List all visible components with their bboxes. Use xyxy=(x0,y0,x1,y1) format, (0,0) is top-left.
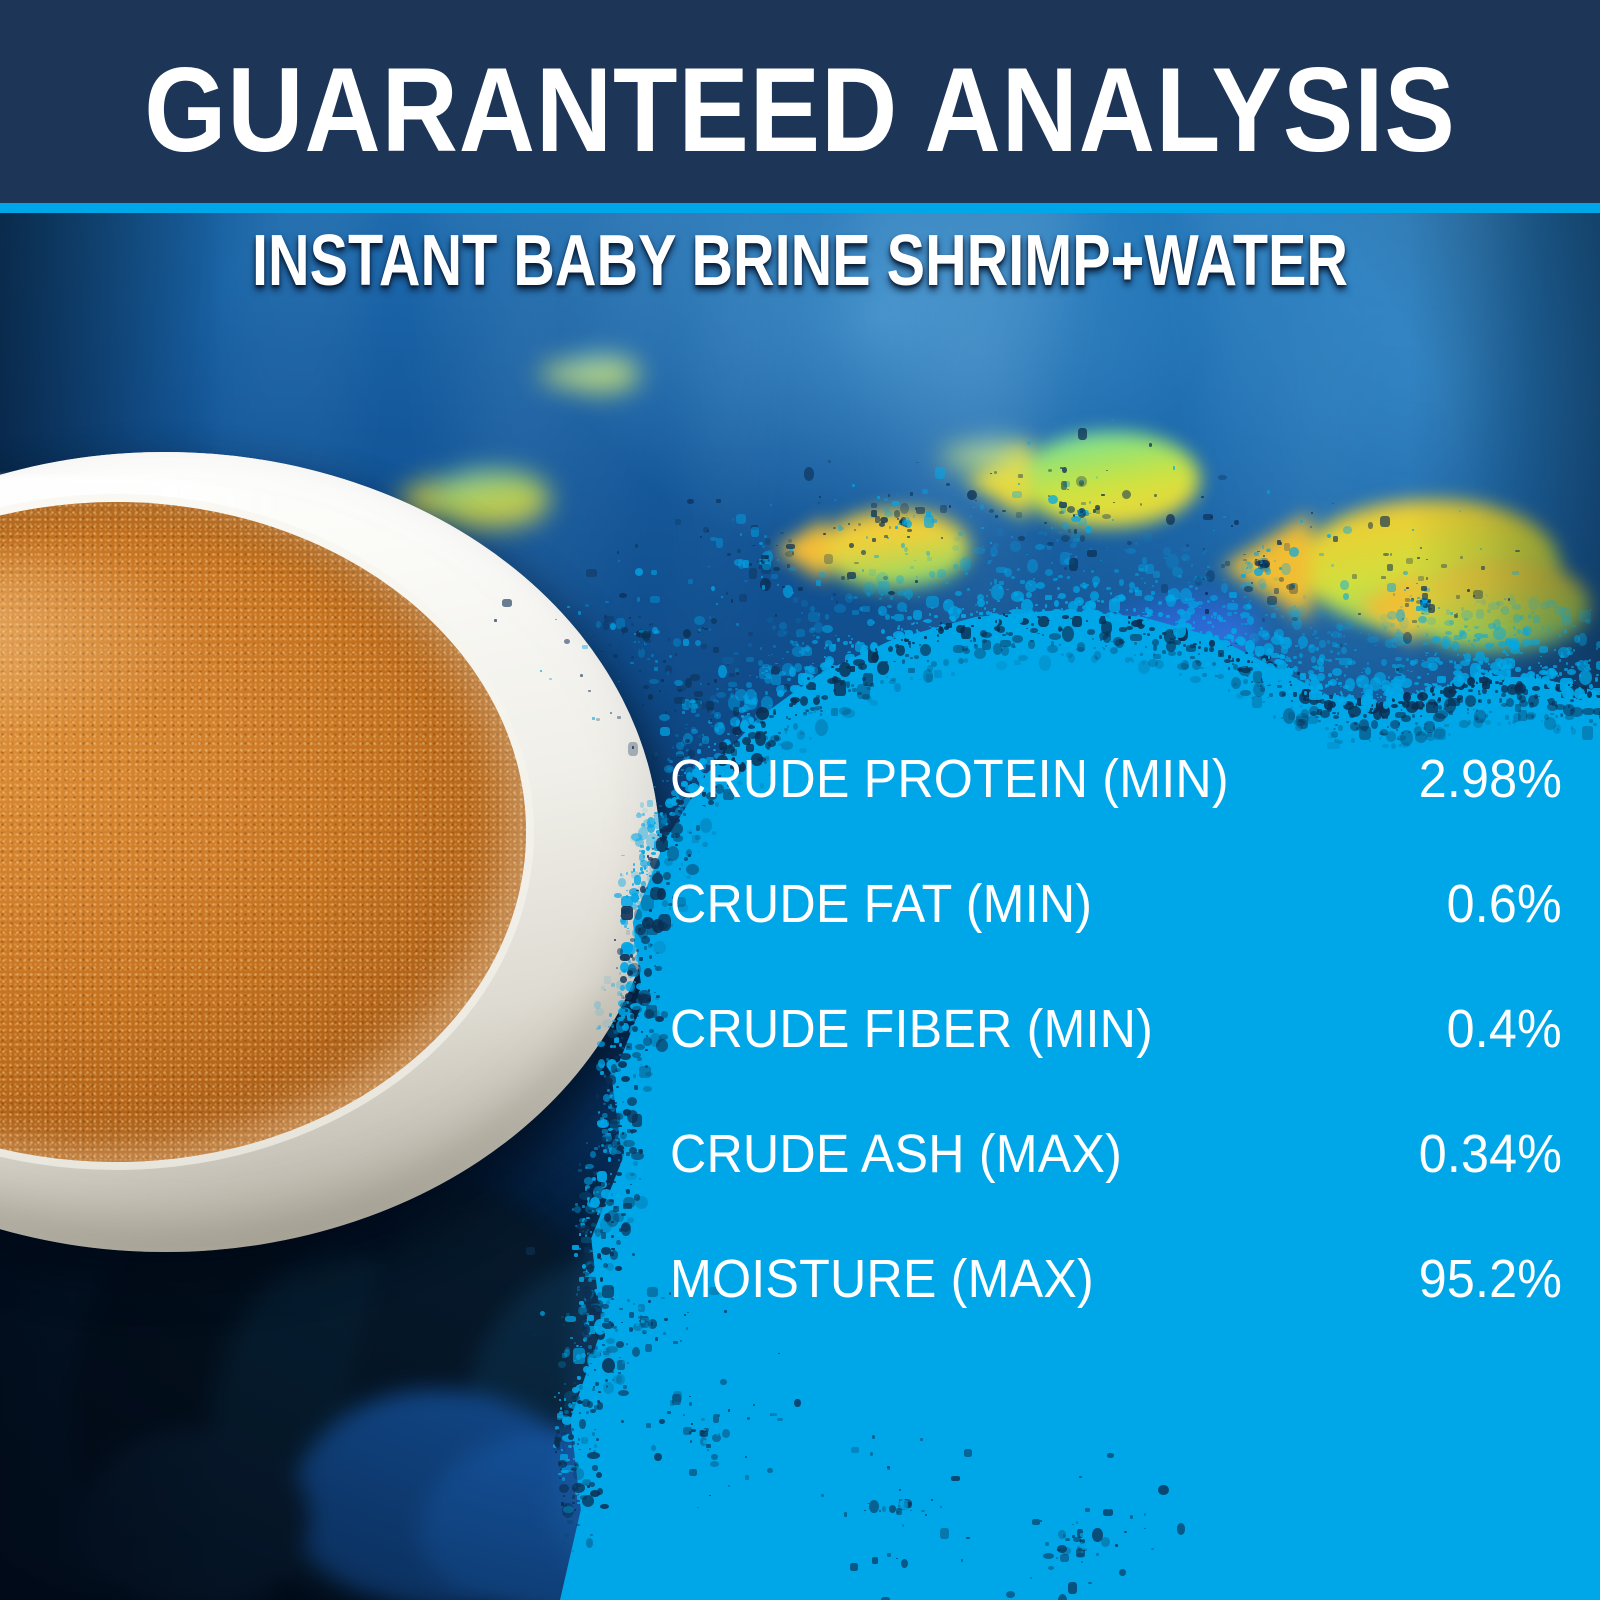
splash-speckle xyxy=(645,1344,652,1352)
splash-speckle xyxy=(590,1534,592,1536)
splash-speckle xyxy=(572,1428,574,1431)
splash-speckle xyxy=(655,660,658,662)
splash-speckle xyxy=(661,826,670,837)
splash-speckle xyxy=(1519,695,1526,703)
splash-speckle xyxy=(1197,601,1203,604)
splash-speckle xyxy=(1489,711,1492,713)
splash-speckle xyxy=(728,1485,730,1487)
splash-speckle xyxy=(1199,607,1201,608)
splash-speckle xyxy=(1387,583,1397,592)
splash-speckle xyxy=(616,1111,625,1121)
splash-speckle xyxy=(1343,593,1349,599)
splash-speckle xyxy=(1203,514,1213,520)
splash-speckle xyxy=(1359,726,1371,740)
splash-speckle xyxy=(602,1331,604,1332)
splash-speckle xyxy=(1456,595,1460,599)
splash-speckle xyxy=(1229,592,1237,598)
splash-speckle xyxy=(786,544,795,549)
splash-speckle xyxy=(1395,738,1397,739)
splash-speckle xyxy=(1418,576,1424,581)
splash-speckle xyxy=(642,852,644,853)
splash-speckle xyxy=(1236,636,1244,645)
splash-speckle xyxy=(861,606,870,612)
splash-speckle xyxy=(572,1550,574,1552)
splash-speckle xyxy=(638,616,641,619)
splash-speckle xyxy=(898,523,901,525)
splash-speckle xyxy=(605,1110,607,1112)
splash-speckle xyxy=(1078,428,1088,440)
splash-speckle xyxy=(1414,659,1418,663)
splash-speckle xyxy=(1387,564,1393,571)
splash-speckle xyxy=(579,1412,581,1414)
splash-speckle xyxy=(745,1475,748,1479)
splash-speckle xyxy=(1540,665,1542,667)
splash-speckle xyxy=(683,1427,692,1435)
nutrient-label: CRUDE FIBER (MIN) xyxy=(670,1002,1153,1056)
splash-speckle xyxy=(494,619,497,622)
splash-speckle xyxy=(661,1297,665,1299)
splash-speckle xyxy=(1432,693,1434,696)
splash-speckle xyxy=(767,617,773,623)
splash-speckle xyxy=(620,873,623,876)
splash-speckle xyxy=(718,665,727,677)
splash-speckle xyxy=(820,713,822,715)
splash-speckle xyxy=(1057,1521,1065,1529)
splash-speckle xyxy=(558,1361,566,1367)
nutrient-value: 0.6% xyxy=(1447,877,1562,931)
splash-speckle xyxy=(1306,699,1308,701)
splash-speckle xyxy=(555,1451,557,1453)
splash-speckle xyxy=(1209,640,1215,646)
splash-speckle xyxy=(620,985,625,991)
splash-speckle xyxy=(587,1374,589,1376)
splash-speckle xyxy=(583,1218,585,1220)
splash-speckle xyxy=(1380,516,1390,526)
splash-speckle xyxy=(852,484,855,487)
splash-speckle xyxy=(1035,544,1045,550)
splash-speckle xyxy=(1076,1553,1086,1559)
splash-speckle xyxy=(1593,708,1600,715)
splash-speckle xyxy=(888,1517,892,1522)
splash-speckle xyxy=(1501,693,1505,697)
splash-speckle xyxy=(747,1417,750,1420)
splash-speckle xyxy=(941,537,943,538)
splash-speckle xyxy=(839,662,851,677)
splash-speckle xyxy=(1327,534,1331,538)
splash-speckle xyxy=(615,1329,618,1332)
splash-speckle xyxy=(710,1461,719,1467)
splash-speckle xyxy=(1061,1485,1069,1496)
splash-speckle xyxy=(784,684,790,690)
splash-speckle xyxy=(683,629,691,638)
nutrient-value: 95.2% xyxy=(1419,1252,1562,1306)
splash-speckle xyxy=(993,608,996,610)
splash-speckle xyxy=(1369,710,1372,712)
header-banner: GUARANTEED ANALYSIS xyxy=(0,0,1600,203)
splash-speckle xyxy=(1093,582,1098,586)
splash-speckle xyxy=(1412,620,1417,623)
splash-speckle xyxy=(590,1151,596,1158)
splash-speckle xyxy=(691,1429,696,1432)
splash-speckle xyxy=(1422,704,1425,707)
splash-speckle xyxy=(578,1438,580,1440)
splash-speckle xyxy=(1062,522,1069,530)
splash-speckle xyxy=(844,1512,848,1516)
splash-speckle xyxy=(954,537,961,541)
splash-speckle xyxy=(1026,628,1028,630)
splash-speckle xyxy=(1405,603,1409,607)
splash-speckle xyxy=(654,965,656,966)
splash-speckle xyxy=(598,1322,600,1324)
splash-speckle xyxy=(1476,665,1480,669)
splash-speckle xyxy=(926,551,930,555)
splash-speckle xyxy=(618,878,626,887)
splash-speckle xyxy=(803,714,811,721)
splash-speckle xyxy=(825,644,828,647)
splash-speckle xyxy=(733,1418,740,1425)
table-row: CRUDE PROTEIN (MIN) 2.98% xyxy=(670,752,1562,877)
splash-speckle xyxy=(1098,612,1103,615)
splash-speckle xyxy=(713,647,719,653)
splash-speckle xyxy=(1003,1513,1005,1515)
splash-speckle xyxy=(796,618,801,623)
splash-speckle xyxy=(655,959,657,961)
splash-speckle xyxy=(575,1464,579,1467)
splash-speckle xyxy=(1478,693,1480,695)
splash-speckle xyxy=(632,1253,635,1255)
splash-speckle xyxy=(638,1081,641,1083)
splash-speckle xyxy=(656,830,659,834)
splash-speckle xyxy=(1071,532,1080,543)
splash-speckle xyxy=(901,543,905,548)
splash-speckle xyxy=(1186,544,1189,547)
splash-speckle xyxy=(1126,1498,1129,1500)
splash-speckle xyxy=(1403,571,1408,575)
splash-speckle xyxy=(540,670,542,671)
splash-speckle xyxy=(1031,623,1034,626)
splash-speckle xyxy=(1383,553,1388,556)
splash-speckle xyxy=(1144,582,1146,585)
splash-speckle xyxy=(885,661,887,663)
splash-speckle xyxy=(973,637,975,639)
splash-speckle xyxy=(847,652,849,653)
splash-speckle xyxy=(920,644,931,656)
splash-speckle xyxy=(962,646,967,650)
splash-speckle xyxy=(1068,601,1078,611)
splash-speckle xyxy=(816,580,820,585)
splash-speckle xyxy=(647,800,654,807)
splash-speckle xyxy=(916,629,918,632)
splash-speckle xyxy=(1499,698,1502,702)
splash-speckle xyxy=(949,505,952,507)
splash-speckle xyxy=(582,1205,585,1208)
splash-speckle xyxy=(897,1413,902,1418)
splash-speckle xyxy=(576,1334,585,1339)
splash-speckle xyxy=(901,1500,907,1508)
splash-speckle xyxy=(587,1315,594,1321)
splash-speckle xyxy=(648,1300,650,1303)
splash-speckle xyxy=(756,1428,760,1433)
splash-speckle xyxy=(672,1394,681,1405)
splash-speckle xyxy=(604,1318,608,1321)
splash-speckle xyxy=(1089,501,1091,504)
splash-speckle xyxy=(1228,667,1230,669)
splash-speckle xyxy=(907,1491,915,1500)
splash-speckle xyxy=(578,1483,581,1487)
splash-speckle xyxy=(1219,617,1223,621)
splash-speckle xyxy=(1262,658,1266,662)
splash-speckle xyxy=(1465,695,1476,707)
splash-speckle xyxy=(610,1250,618,1260)
splash-speckle xyxy=(787,678,790,681)
splash-speckle xyxy=(664,1318,668,1321)
splash-speckle xyxy=(1406,558,1413,564)
splash-speckle xyxy=(694,691,703,698)
splash-speckle xyxy=(1078,518,1087,526)
splash-speckle xyxy=(943,659,949,666)
splash-speckle xyxy=(564,1533,568,1537)
splash-speckle xyxy=(664,1390,669,1393)
splash-speckle xyxy=(567,1520,572,1524)
splash-speckle xyxy=(1367,636,1379,643)
splash-speckle xyxy=(598,1145,600,1148)
splash-speckle xyxy=(614,1102,617,1104)
splash-speckle xyxy=(914,655,918,659)
splash-speckle xyxy=(756,719,762,723)
splash-speckle xyxy=(1412,714,1415,717)
nutrient-value: 2.98% xyxy=(1419,752,1562,806)
accent-divider xyxy=(0,203,1600,213)
splash-speckle xyxy=(1124,549,1126,551)
splash-speckle xyxy=(895,526,898,529)
splash-speckle xyxy=(634,875,642,885)
splash-speckle xyxy=(563,1542,566,1544)
splash-speckle xyxy=(1557,728,1559,731)
splash-speckle xyxy=(632,1052,641,1058)
splash-speckle xyxy=(596,1191,599,1193)
splash-speckle xyxy=(702,736,709,744)
splash-speckle xyxy=(912,1476,921,1485)
splash-speckle xyxy=(1247,562,1252,569)
splash-speckle xyxy=(655,1337,658,1341)
splash-speckle xyxy=(606,1087,608,1089)
splash-speckle xyxy=(1298,661,1301,664)
splash-speckle xyxy=(1126,609,1128,612)
splash-speckle xyxy=(1017,568,1019,571)
splash-speckle xyxy=(924,515,934,528)
splash-speckle xyxy=(1151,615,1153,616)
splash-speckle xyxy=(1083,570,1085,572)
splash-speckle xyxy=(794,687,805,696)
splash-speckle xyxy=(1061,481,1067,489)
nutrient-label: CRUDE PROTEIN (MIN) xyxy=(670,752,1229,806)
splash-speckle xyxy=(848,1487,851,1490)
splash-speckle xyxy=(1079,1476,1082,1478)
splash-speckle xyxy=(1396,629,1401,635)
splash-speckle xyxy=(1560,655,1563,658)
splash-speckle xyxy=(649,955,652,958)
splash-speckle xyxy=(1559,672,1562,675)
splash-speckle xyxy=(896,575,904,584)
splash-speckle xyxy=(1044,532,1047,535)
splash-speckle xyxy=(733,707,740,716)
splash-speckle xyxy=(699,743,702,746)
splash-speckle xyxy=(895,644,899,648)
splash-speckle xyxy=(1082,610,1087,613)
splash-speckle xyxy=(833,689,836,692)
splash-speckle xyxy=(888,494,890,496)
splash-speckle xyxy=(916,622,918,624)
splash-speckle xyxy=(847,578,849,580)
splash-speckle xyxy=(883,576,888,580)
splash-speckle xyxy=(1427,617,1437,624)
splash-speckle xyxy=(1115,1549,1118,1552)
splash-speckle xyxy=(582,645,588,649)
splash-speckle xyxy=(1538,662,1540,664)
splash-speckle xyxy=(1153,654,1161,659)
splash-speckle xyxy=(588,1278,592,1281)
splash-speckle xyxy=(927,557,932,561)
splash-speckle xyxy=(616,1086,619,1088)
splash-speckle xyxy=(802,642,804,645)
splash-speckle xyxy=(1069,558,1078,571)
splash-speckle xyxy=(1060,1554,1070,1562)
splash-speckle xyxy=(588,1210,590,1212)
splash-speckle xyxy=(652,754,658,759)
splash-speckle xyxy=(910,677,912,680)
splash-speckle xyxy=(1241,574,1246,578)
splash-speckle xyxy=(1398,667,1403,673)
splash-speckle xyxy=(1161,584,1168,593)
splash-speckle xyxy=(898,1493,900,1496)
splash-speckle xyxy=(606,1075,616,1085)
splash-speckle xyxy=(821,1494,824,1498)
splash-speckle xyxy=(963,625,965,628)
splash-speckle xyxy=(1304,691,1308,695)
splash-speckle xyxy=(611,1287,613,1289)
splash-speckle xyxy=(660,727,670,737)
splash-speckle xyxy=(584,1249,589,1255)
splash-speckle xyxy=(1331,564,1333,567)
splash-speckle xyxy=(1005,615,1008,617)
splash-speckle xyxy=(833,527,835,529)
splash-speckle xyxy=(1214,616,1216,619)
splash-speckle xyxy=(975,604,977,606)
splash-speckle xyxy=(663,660,666,663)
splash-speckle xyxy=(962,608,964,609)
splash-speckle xyxy=(831,597,833,600)
splash-speckle xyxy=(585,1187,587,1190)
splash-speckle xyxy=(1115,1544,1117,1547)
splash-speckle xyxy=(1468,640,1470,642)
splash-speckle xyxy=(659,690,661,692)
splash-speckle xyxy=(1582,726,1593,739)
splash-speckle xyxy=(1333,536,1338,542)
splash-speckle xyxy=(1202,552,1204,554)
splash-speckle xyxy=(739,594,746,603)
splash-speckle xyxy=(640,845,643,847)
splash-speckle xyxy=(581,1437,588,1444)
splash-speckle xyxy=(690,704,698,709)
splash-speckle xyxy=(666,780,668,782)
splash-speckle xyxy=(564,1503,567,1507)
splash-speckle xyxy=(1487,609,1491,613)
splash-speckle xyxy=(831,708,838,716)
splash-speckle xyxy=(592,717,595,719)
splash-speckle xyxy=(892,501,899,506)
splash-speckle xyxy=(647,925,658,935)
splash-speckle xyxy=(1101,494,1105,496)
splash-speckle xyxy=(1045,1542,1049,1546)
splash-speckle xyxy=(907,616,912,620)
splash-speckle xyxy=(652,1010,660,1017)
splash-speckle xyxy=(743,560,749,567)
splash-speckle xyxy=(1459,630,1465,636)
splash-speckle xyxy=(986,595,988,598)
splash-speckle xyxy=(1462,684,1468,688)
splash-speckle xyxy=(1166,641,1175,651)
splash-speckle xyxy=(1509,598,1516,605)
splash-speckle xyxy=(1275,608,1278,610)
splash-speckle xyxy=(1317,673,1325,681)
splash-speckle xyxy=(970,515,972,518)
splash-speckle xyxy=(1480,548,1482,549)
splash-speckle xyxy=(1243,596,1247,599)
splash-speckle xyxy=(586,1217,589,1219)
splash-speckle xyxy=(1012,611,1014,614)
splash-speckle xyxy=(646,874,648,875)
splash-speckle xyxy=(1243,679,1247,684)
splash-speckle xyxy=(632,1422,636,1427)
splash-speckle xyxy=(871,503,877,508)
splash-speckle xyxy=(561,1470,565,1473)
splash-speckle xyxy=(605,601,608,603)
splash-speckle xyxy=(576,1293,578,1296)
splash-speckle xyxy=(1474,715,1479,720)
splash-speckle xyxy=(952,619,955,621)
splash-speckle xyxy=(1242,668,1250,672)
splash-speckle xyxy=(934,615,938,618)
splash-speckle xyxy=(808,612,820,622)
splash-speckle xyxy=(737,549,741,553)
splash-speckle xyxy=(1112,519,1114,522)
splash-speckle xyxy=(711,618,717,624)
splash-speckle xyxy=(1045,611,1047,612)
splash-speckle xyxy=(1134,642,1138,644)
splash-speckle xyxy=(617,716,622,718)
splash-speckle xyxy=(922,489,928,494)
splash-speckle xyxy=(617,1409,624,1415)
splash-speckle xyxy=(561,1316,563,1318)
splash-speckle xyxy=(1505,715,1509,720)
splash-speckle xyxy=(1309,645,1313,647)
splash-speckle xyxy=(576,1383,579,1385)
splash-speckle xyxy=(1370,699,1377,704)
splash-speckle xyxy=(1267,596,1277,605)
splash-speckle xyxy=(572,1495,575,1498)
splash-speckle xyxy=(1061,608,1063,610)
splash-speckle xyxy=(1415,722,1418,725)
splash-speckle xyxy=(673,638,681,647)
splash-speckle xyxy=(1080,535,1085,542)
splash-speckle xyxy=(857,641,860,644)
splash-speckle xyxy=(577,1376,581,1380)
splash-speckle xyxy=(1018,655,1028,661)
splash-speckle xyxy=(1468,689,1473,692)
splash-speckle xyxy=(1386,731,1396,742)
splash-speckle xyxy=(594,1405,598,1410)
splash-speckle xyxy=(1559,659,1561,662)
